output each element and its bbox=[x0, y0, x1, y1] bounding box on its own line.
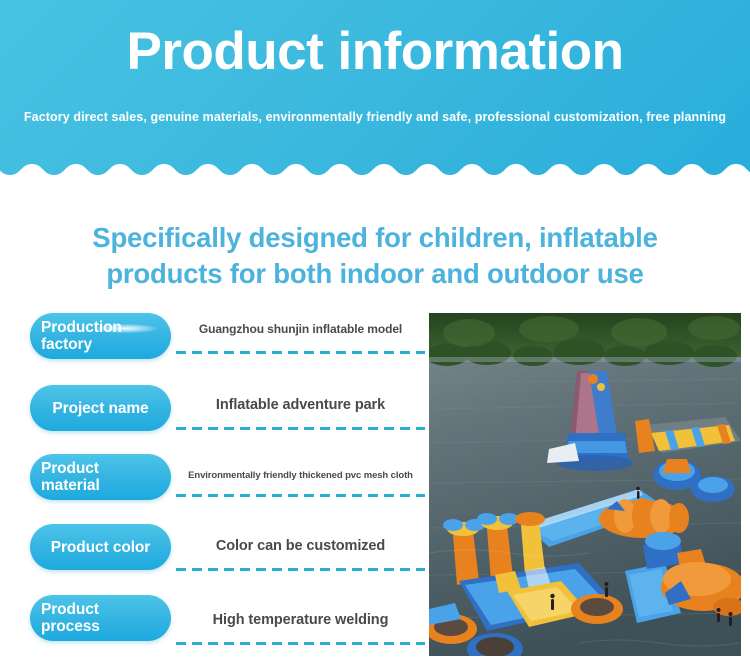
specification-list: Production factory Guangzhou shunjin inf… bbox=[0, 313, 428, 669]
spec-label-line-2: process bbox=[41, 618, 100, 635]
spec-label-text: Product material bbox=[30, 460, 108, 494]
spec-row-product-material: Product material Environmentally friendl… bbox=[0, 454, 428, 525]
page-title: Product information bbox=[0, 16, 750, 88]
spec-label-pill-product-process: Product process bbox=[30, 595, 171, 641]
page-banner: Product information Factory direct sales… bbox=[0, 0, 750, 186]
spec-label-pill-product-material: Product material bbox=[30, 454, 171, 500]
spec-value-project-name: Inflatable adventure park bbox=[176, 397, 425, 413]
spec-row-project-name: Project name Inflatable adventure park bbox=[0, 385, 428, 456]
spec-value-product-material: Environmentally friendly thickened pvc m… bbox=[176, 470, 425, 481]
spec-label-text: Production factory bbox=[30, 319, 130, 353]
spec-label-line-1: Product color bbox=[30, 539, 171, 556]
spec-divider-dashed bbox=[176, 568, 425, 571]
spec-label-line-1: Product bbox=[41, 460, 100, 477]
wave-divider bbox=[0, 161, 750, 186]
spec-label-text: Product process bbox=[30, 601, 108, 635]
spec-label-pill-product-color: Product color bbox=[30, 524, 171, 570]
spec-row-product-process: Product process High temperature welding bbox=[0, 595, 428, 666]
spec-label-pill-project-name: Project name bbox=[30, 385, 171, 431]
spec-label-text: Project name bbox=[30, 400, 171, 417]
spec-divider-dashed bbox=[176, 494, 425, 497]
spec-divider-dashed bbox=[176, 351, 425, 354]
product-photo bbox=[429, 313, 741, 656]
spec-label-line-1: Product bbox=[41, 601, 100, 618]
section-heading-line-2: products for both indoor and outdoor use bbox=[0, 256, 750, 292]
section-heading: Specifically designed for children, infl… bbox=[0, 220, 750, 292]
product-information-page: Product information Factory direct sales… bbox=[0, 0, 750, 669]
spec-value-production-factory: Guangzhou shunjin inflatable model bbox=[176, 322, 425, 336]
spec-divider-dashed bbox=[176, 427, 425, 430]
spec-label-line-2: factory bbox=[41, 336, 122, 353]
spec-divider-dashed bbox=[176, 642, 425, 645]
spec-row-product-color: Product color Color can be customized bbox=[0, 524, 428, 595]
spec-value-product-color: Color can be customized bbox=[176, 538, 425, 554]
spec-label-line-1: Production bbox=[41, 319, 122, 336]
spec-label-pill-production-factory: Production factory bbox=[30, 313, 171, 359]
spec-label-text: Product color bbox=[30, 539, 171, 556]
banner-subtitle: Factory direct sales, genuine materials,… bbox=[0, 110, 750, 124]
water-park-illustration bbox=[429, 313, 741, 656]
spec-value-product-process: High temperature welding bbox=[176, 612, 425, 628]
section-heading-line-1: Specifically designed for children, infl… bbox=[0, 220, 750, 256]
spec-label-line-2: material bbox=[41, 477, 100, 494]
spec-row-production-factory: Production factory Guangzhou shunjin inf… bbox=[0, 313, 428, 384]
spec-label-line-1: Project name bbox=[30, 400, 171, 417]
